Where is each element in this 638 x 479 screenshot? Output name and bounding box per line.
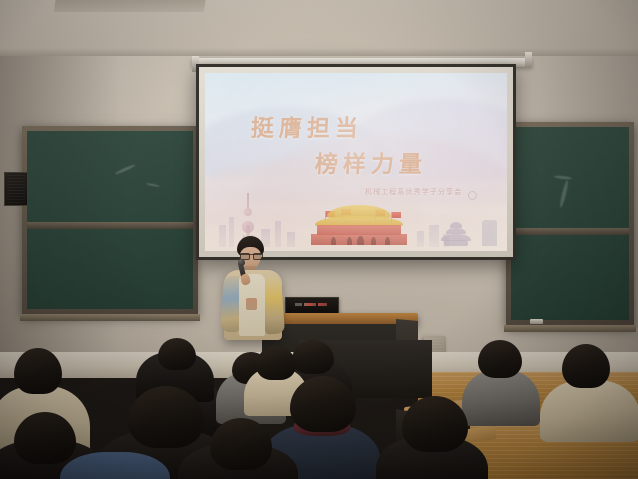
- blackboard-right-divider: [511, 228, 629, 235]
- wall-speaker-left: [4, 172, 28, 206]
- gate-arch: [331, 237, 336, 245]
- monitor-pixels: [304, 303, 316, 306]
- speaker-grille: [7, 175, 25, 203]
- blackboard-left-divider: [27, 222, 193, 229]
- audience-head: [402, 396, 468, 452]
- audience-head: [292, 340, 334, 374]
- blackboard-eraser[interactable]: [530, 319, 543, 324]
- tiananmen-gate-icon: [311, 205, 407, 245]
- gate-arch: [385, 237, 390, 245]
- audience-person-body: [462, 370, 540, 426]
- lecture-hall-photo: 挺膺担当 榜样力量 机械工程系优秀学子分享会: [0, 0, 638, 479]
- gate-arch: [357, 236, 364, 245]
- audience-head: [290, 376, 356, 432]
- microphone-head-icon: [238, 259, 245, 266]
- blackboard-right: [506, 122, 634, 327]
- temple-base: [444, 240, 468, 246]
- audience-head: [256, 346, 296, 380]
- audience-head: [210, 418, 272, 470]
- screen-bracket-right: [525, 52, 532, 68]
- slide-decor-circle: [468, 191, 477, 200]
- audience-head: [128, 386, 204, 448]
- audience-head: [478, 340, 522, 378]
- skyline-building: [417, 231, 424, 247]
- ceiling-soffit: [54, 0, 207, 12]
- slide-title-line-1: 挺膺担当: [250, 109, 364, 143]
- skyline-building: [429, 225, 439, 247]
- blackboard-left-surface: [27, 131, 193, 309]
- monitor-pixels: [295, 303, 302, 306]
- projection-screen: 挺膺担当 榜样力量 机械工程系优秀学子分享会: [196, 64, 516, 260]
- audience-head: [14, 412, 76, 464]
- audience-head: [14, 348, 62, 394]
- audience-head: [562, 344, 610, 388]
- slide-subtitle: 机械工程系优秀学子分享会: [365, 187, 462, 197]
- monument-icon: [482, 220, 497, 246]
- audience-head: [158, 338, 196, 370]
- blackboard-left: [22, 126, 198, 316]
- monitor-pixels: [318, 303, 327, 306]
- audience-person-body: [540, 380, 638, 442]
- gate-arch: [371, 237, 376, 245]
- blackboard-right-ledge: [504, 325, 636, 332]
- tower-sphere-upper: [244, 208, 252, 216]
- slide-title-line-2: 榜样力量: [314, 145, 428, 179]
- presentation-slide: 挺膺担当 榜样力量 机械工程系优秀学子分享会: [205, 73, 507, 251]
- blackboard-left-ledge: [20, 314, 200, 321]
- shirt-graphic: [246, 298, 257, 310]
- gate-arch: [347, 237, 352, 245]
- temple-of-heaven-icon: [441, 222, 471, 246]
- presenter: [214, 236, 290, 354]
- red-flag: [392, 212, 401, 218]
- blackboard-right-surface: [511, 127, 629, 320]
